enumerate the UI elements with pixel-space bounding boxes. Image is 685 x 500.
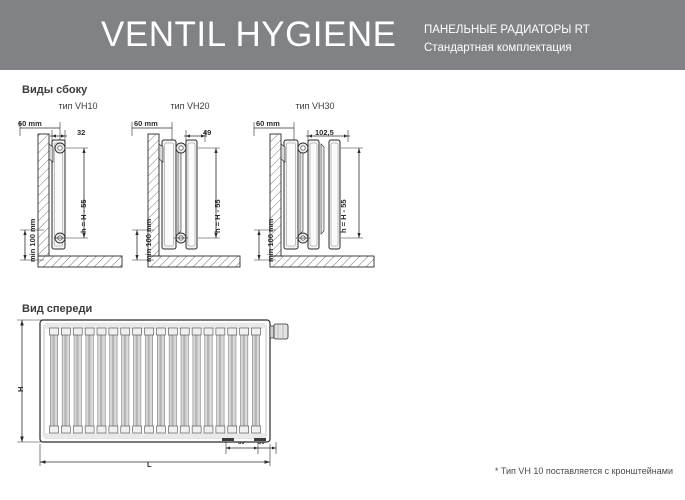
page-header: VENTIL HYGIENE ПАНЕЛЬНЫЕ РАДИАТОРЫ RT Ст…: [0, 0, 685, 70]
wall-profile: [148, 134, 159, 256]
bracket-hook: [49, 144, 53, 162]
footnote-text: * Тип VH 10 поставляется с кронштейнами: [495, 466, 673, 476]
fin-cap-bottom: [97, 426, 106, 433]
fin-cap-bottom: [252, 426, 261, 433]
fin-cap-top: [192, 328, 201, 335]
convector-fin-1: [300, 144, 303, 234]
type-label-vh20: тип VH20: [150, 101, 230, 111]
fin-cap-bottom: [192, 426, 201, 433]
wall-profile: [270, 134, 281, 256]
fin-cap-top: [156, 328, 165, 335]
fin-cap-top: [145, 328, 154, 335]
fin-cap-top: [240, 328, 249, 335]
side-view-diagram-vh20: [130, 126, 250, 286]
fin-cap-top: [228, 328, 237, 335]
fin-cap-top: [216, 328, 225, 335]
fin-cap-bottom: [204, 426, 213, 433]
fin-cap-top: [109, 328, 118, 335]
fin-cap-bottom: [73, 426, 82, 433]
wall-profile: [38, 134, 49, 256]
bracket-hook: [281, 144, 285, 162]
page-title: VENTIL HYGIENE: [101, 14, 397, 56]
floor-profile: [270, 256, 374, 267]
side-view-diagram-vh30: [252, 126, 382, 286]
convector-fin-2: [321, 144, 324, 234]
header-subtitle: ПАНЕЛЬНЫЕ РАДИАТОРЫ RT Стандартная компл…: [424, 21, 590, 57]
side-view-diagram-vh10: [14, 126, 124, 286]
fin-cap-top: [252, 328, 261, 335]
valve-connector: [270, 324, 288, 339]
convector-fin: [178, 144, 181, 234]
type-label-vh10: тип VH10: [38, 101, 118, 111]
type-label-vh30: тип VH30: [273, 101, 357, 111]
fin-cap-bottom: [168, 426, 177, 433]
fin-cap-top: [85, 328, 94, 335]
fin-cap-bottom: [61, 426, 70, 433]
fin-cap-top: [121, 328, 130, 335]
fin-cap-top: [61, 328, 70, 335]
fin-cap-bottom: [145, 426, 154, 433]
fin-cap-bottom: [216, 426, 225, 433]
side-views-title: Виды сбоку: [22, 84, 87, 96]
header-subtitle-line1: ПАНЕЛЬНЫЕ РАДИАТОРЫ RT: [424, 21, 590, 39]
fin-cap-bottom: [240, 426, 249, 433]
floor-profile: [38, 256, 122, 267]
fin-cap-bottom: [121, 426, 130, 433]
front-view-diagram: [14, 314, 314, 484]
fin-cap-top: [73, 328, 82, 335]
fin-cap-top: [204, 328, 213, 335]
floor-profile: [148, 256, 240, 267]
fin-cap-bottom: [85, 426, 94, 433]
fin-cap-top: [49, 328, 58, 335]
fin-cap-bottom: [133, 426, 142, 433]
fin-cap-bottom: [156, 426, 165, 433]
fin-cap-bottom: [109, 426, 118, 433]
header-subtitle-line2: Стандартная комплектация: [424, 39, 590, 57]
fin-cap-top: [168, 328, 177, 335]
fin-cap-top: [97, 328, 106, 335]
fin-cap-top: [180, 328, 189, 335]
fin-cap-bottom: [180, 426, 189, 433]
fin-cap-top: [133, 328, 142, 335]
fin-cap-bottom: [49, 426, 58, 433]
bracket-hook: [159, 144, 163, 162]
fin-cap-bottom: [228, 426, 237, 433]
